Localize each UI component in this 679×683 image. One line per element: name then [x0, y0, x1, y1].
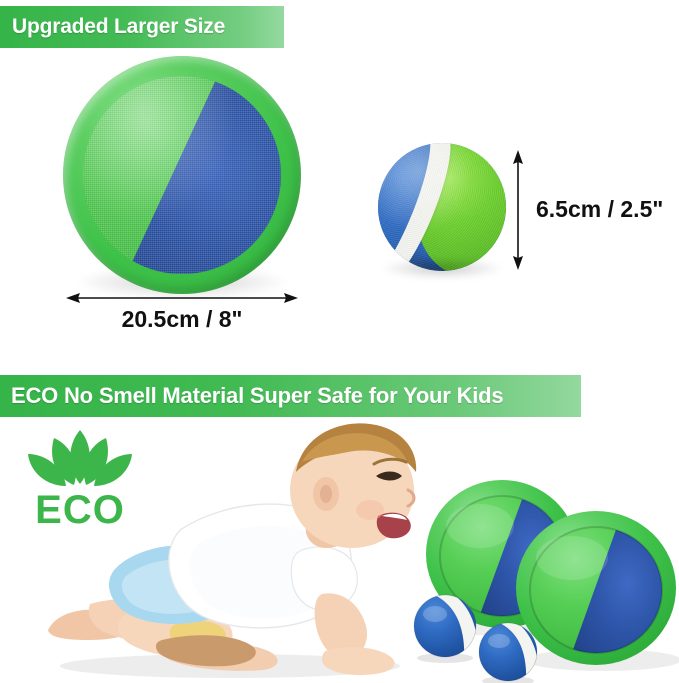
paddle-rim [63, 56, 301, 294]
crawling-baby-photo: Baby crawling in white shirt and light b… [30, 418, 422, 683]
ball-highlight [378, 143, 506, 271]
dimension-ball-diameter: 6.5cm / 2.5" [508, 150, 676, 276]
banner-eco-safe-text: ECO No Smell Material Super Safe for You… [11, 383, 503, 409]
dimension-ball-label: 6.5cm / 2.5" [536, 196, 663, 223]
banner-upgraded-size: Upgraded Larger Size [0, 6, 284, 48]
paddle-velcro-face [83, 76, 281, 274]
vertical-double-arrow-icon [508, 150, 528, 270]
paddle-face-highlight [83, 76, 281, 274]
product-set-cluster [398, 478, 679, 683]
horizontal-double-arrow-icon [66, 288, 298, 308]
cluster-paddle-front [516, 511, 676, 665]
product-infographic: Upgraded Larger Size toss-and-catch-padd… [0, 0, 679, 683]
dimension-paddle-label: 20.5cm / 8" [66, 306, 298, 333]
banner-eco-safe: ECO No Smell Material Super Safe for You… [0, 375, 581, 417]
ball-main-image: toss-and-catch-ball [378, 143, 506, 271]
paddle-main-image: toss-and-catch-paddle [63, 56, 301, 294]
ball-body [378, 143, 506, 271]
banner-upgraded-size-text: Upgraded Larger Size [12, 15, 225, 39]
dimension-paddle-diameter: 20.5cm / 8" [66, 288, 298, 340]
baby-illustration [30, 418, 422, 683]
product-set-illustration [398, 478, 679, 683]
ball-drop-shadow [383, 258, 501, 278]
